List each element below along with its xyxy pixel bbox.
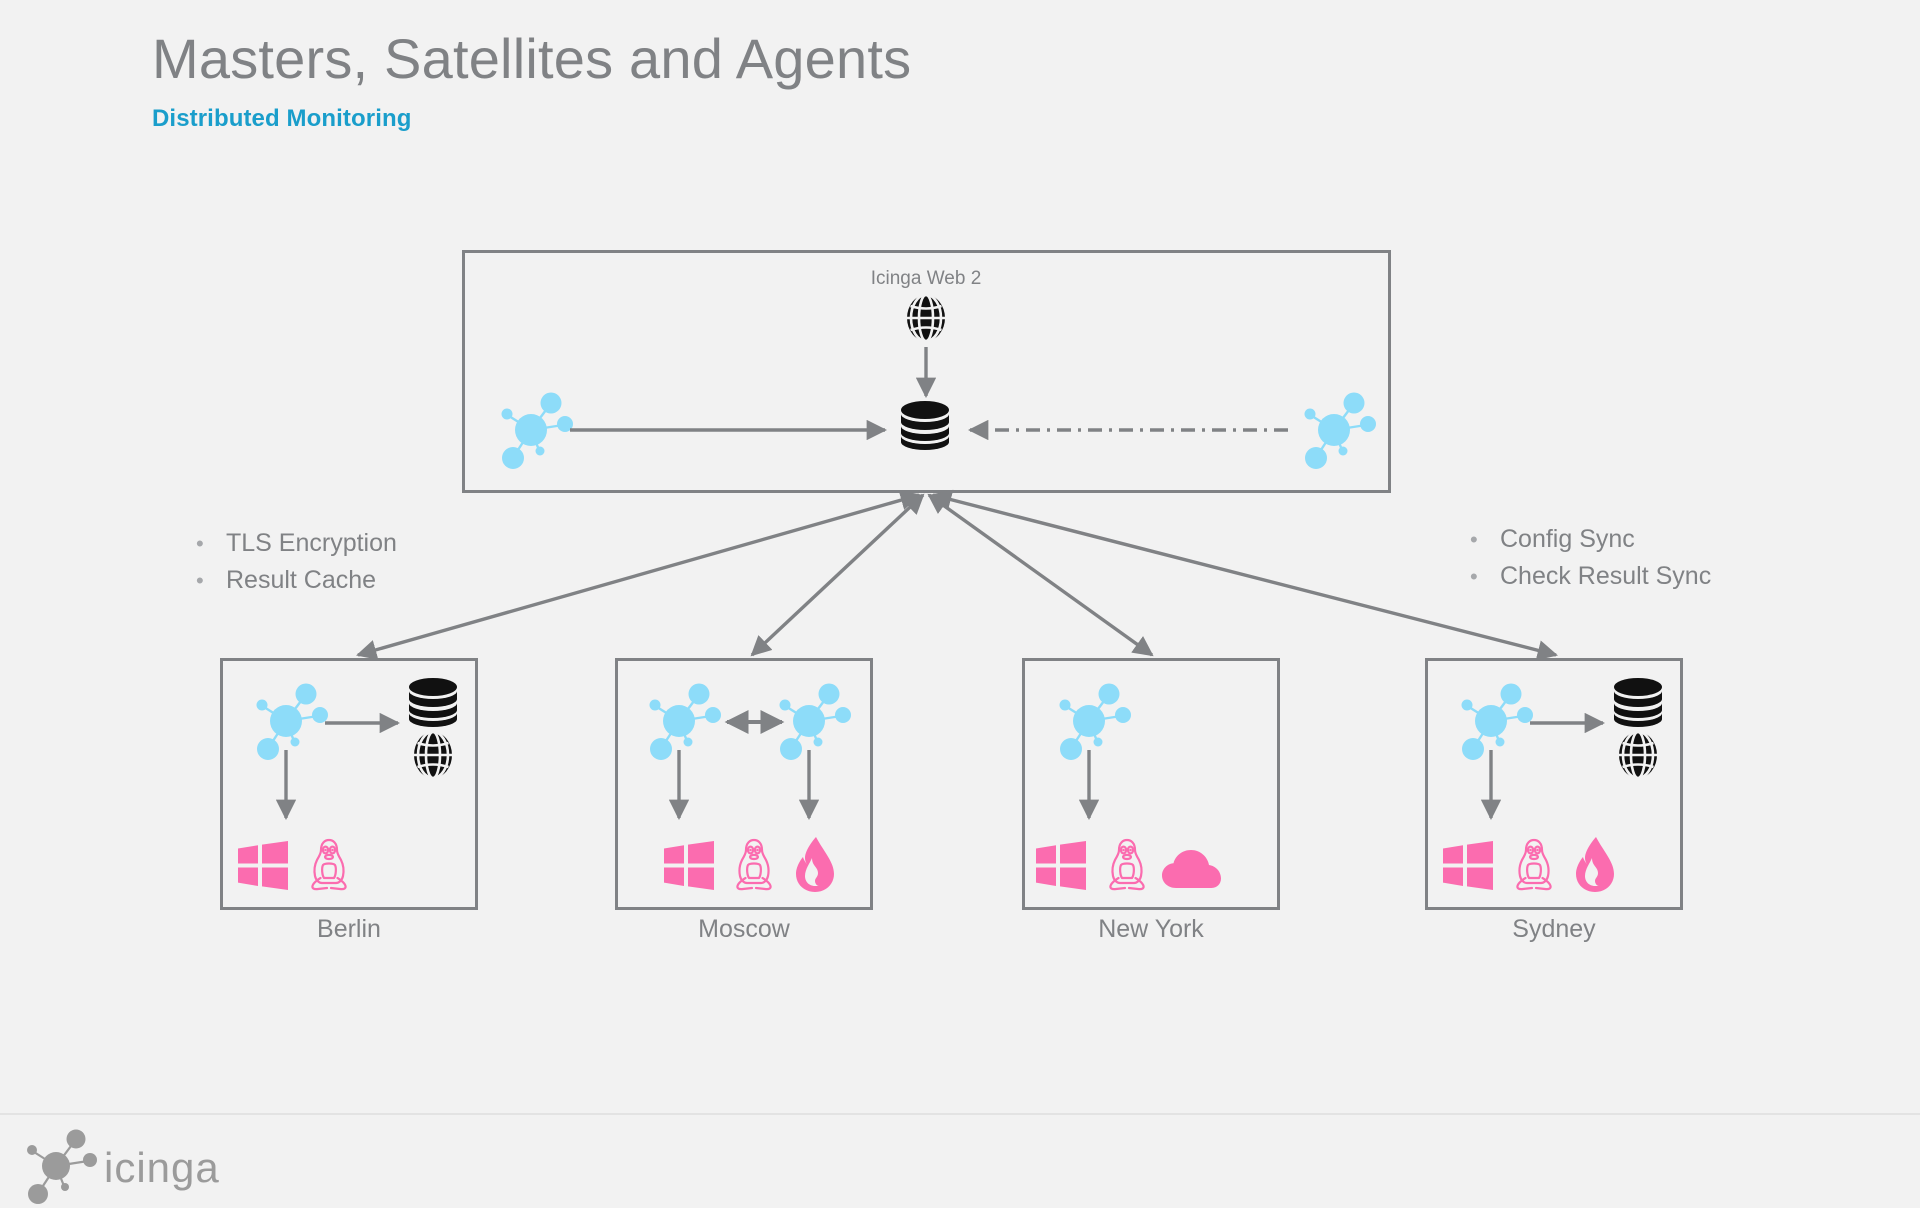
bullet-marker-icon: • bbox=[196, 563, 226, 599]
bullet-list-right: • Config Sync • Check Result Sync bbox=[1470, 521, 1711, 595]
page-subtitle: Distributed Monitoring bbox=[152, 105, 412, 133]
icinga-web-2-label: Icinga Web 2 bbox=[806, 268, 1046, 290]
site-label-berlin: Berlin bbox=[220, 915, 478, 944]
bullet-item-config-sync: • Config Sync bbox=[1470, 521, 1711, 558]
bullet-item-tls-encryption: • TLS Encryption bbox=[196, 525, 397, 562]
site-box-newyork bbox=[1022, 658, 1280, 910]
bullet-label: TLS Encryption bbox=[226, 525, 397, 561]
arrow-master-to-sydney bbox=[933, 495, 1556, 655]
bullet-label: Result Cache bbox=[226, 562, 376, 598]
icinga-logo-node-cluster-icon bbox=[22, 1128, 102, 1208]
bullet-marker-icon: • bbox=[1470, 559, 1500, 595]
site-box-sydney bbox=[1425, 658, 1683, 910]
bullet-marker-icon: • bbox=[1470, 522, 1500, 558]
page-title: Masters, Satellites and Agents bbox=[152, 26, 911, 91]
site-box-moscow bbox=[615, 658, 873, 910]
site-label-moscow: Moscow bbox=[615, 915, 873, 944]
footer-divider bbox=[0, 1113, 1920, 1115]
bullet-label: Config Sync bbox=[1500, 521, 1635, 557]
icinga-logo: icinga bbox=[22, 1128, 220, 1208]
site-box-berlin bbox=[220, 658, 478, 910]
bullet-item-check-result-sync: • Check Result Sync bbox=[1470, 558, 1711, 595]
arrow-master-to-newyork bbox=[929, 495, 1152, 655]
bullet-label: Check Result Sync bbox=[1500, 558, 1711, 594]
icinga-wordmark: icinga bbox=[104, 1147, 220, 1189]
arrow-master-to-berlin bbox=[358, 495, 919, 655]
bullet-item-result-cache: • Result Cache bbox=[196, 562, 397, 599]
bullet-marker-icon: • bbox=[196, 526, 226, 562]
site-label-sydney: Sydney bbox=[1425, 915, 1683, 944]
arrow-master-to-moscow bbox=[752, 495, 923, 655]
bullet-list-left: • TLS Encryption • Result Cache bbox=[196, 525, 397, 599]
site-label-newyork: New York bbox=[1022, 915, 1280, 944]
